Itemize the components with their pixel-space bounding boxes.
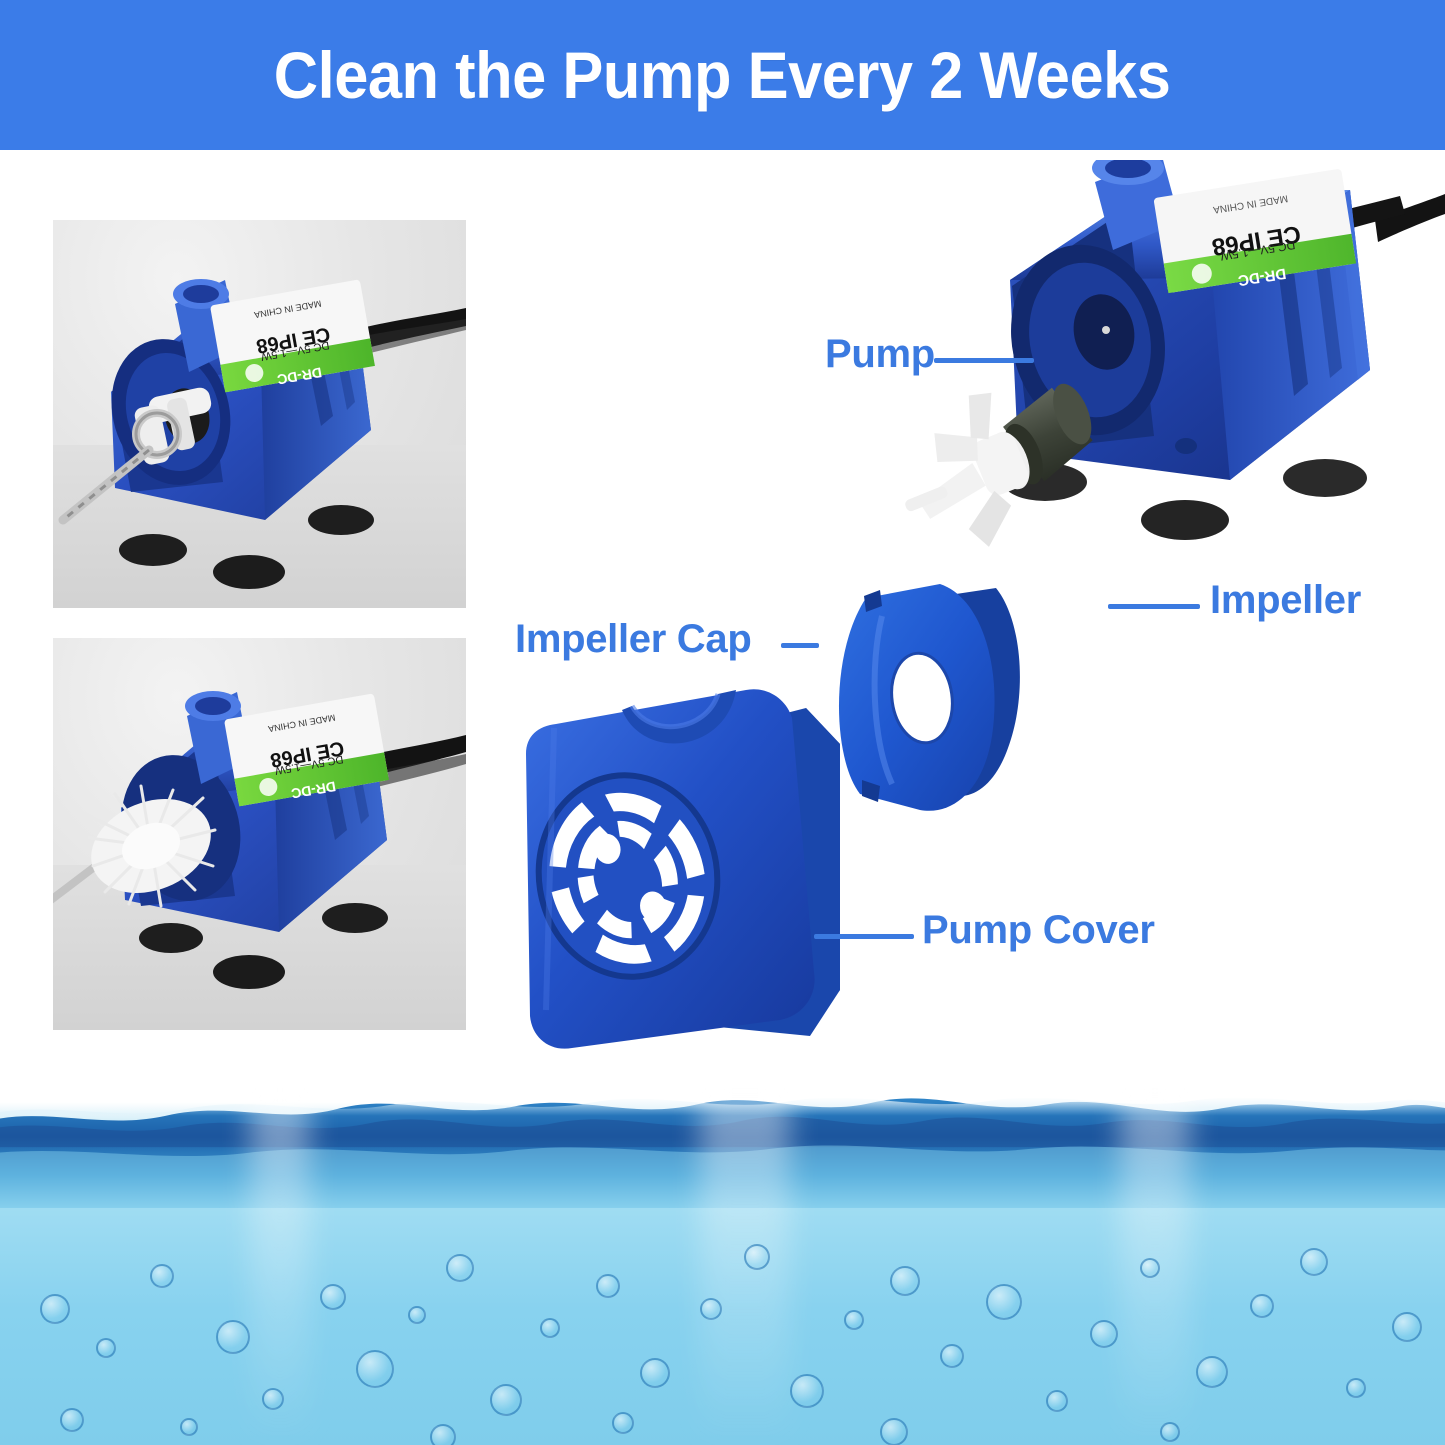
bubble <box>1300 1248 1328 1276</box>
page-title: Clean the Pump Every 2 Weeks <box>274 37 1171 113</box>
bubble <box>216 1320 250 1354</box>
label-pump: Pump <box>825 332 935 377</box>
light-ray <box>700 1088 790 1445</box>
leader-line-pump <box>934 358 1034 363</box>
bubble <box>640 1358 670 1388</box>
bubble <box>880 1418 908 1445</box>
pump-illustration: MADE IN CHINA CE IP68 DC 5V—1.5W DR-DC <box>53 220 466 608</box>
bubble <box>612 1412 634 1434</box>
bubble <box>1090 1320 1118 1348</box>
bubble <box>60 1408 84 1432</box>
bubble <box>1046 1390 1068 1412</box>
bubble <box>490 1384 522 1416</box>
photo-brush-inserted-into-pump: MADE IN CHINA CE IP68 DC 5V—1.5W DR-DC <box>53 220 466 608</box>
bubble <box>408 1306 426 1324</box>
bubble <box>1346 1378 1366 1398</box>
part-impeller-cap <box>839 584 1020 811</box>
bubble <box>96 1338 116 1358</box>
bubble <box>700 1298 722 1320</box>
bubble <box>1140 1258 1160 1278</box>
bubble <box>744 1244 770 1270</box>
bubble <box>844 1310 864 1330</box>
bubble <box>320 1284 346 1310</box>
exploded-parts-diagram: MADE IN CHINA CE IP68 DC 5V—1.5W DR-DC <box>470 160 1445 1060</box>
bubble <box>1160 1422 1180 1442</box>
part-pump: MADE IN CHINA CE IP68 DC 5V—1.5W DR-DC <box>994 160 1445 540</box>
bubble <box>890 1266 920 1296</box>
bubble <box>262 1388 284 1410</box>
bubble <box>1250 1294 1274 1318</box>
label-impeller: Impeller <box>1210 578 1361 623</box>
pump-illustration: MADE IN CHINA CE IP68 DC 5V—1.5W DR-DC <box>53 638 466 1030</box>
bubble <box>430 1424 456 1445</box>
bubble <box>986 1284 1022 1320</box>
bubble <box>1392 1312 1422 1342</box>
leader-line-pump-cover <box>814 934 914 939</box>
header-banner: Clean the Pump Every 2 Weeks <box>0 0 1445 150</box>
label-pump-cover: Pump Cover <box>922 908 1155 953</box>
bubble <box>40 1294 70 1324</box>
water-background <box>0 1088 1445 1445</box>
bubble <box>540 1318 560 1338</box>
infographic-root: Clean the Pump Every 2 Weeks <box>0 0 1445 1445</box>
leader-line-impeller-cap <box>781 643 819 648</box>
bubble <box>150 1264 174 1288</box>
bubble <box>790 1374 824 1408</box>
leader-line-impeller <box>1108 604 1200 609</box>
label-impeller-cap: Impeller Cap <box>515 617 751 662</box>
bubble <box>180 1418 198 1436</box>
part-pump-cover <box>521 689 840 1048</box>
bubble <box>596 1274 620 1298</box>
bubble <box>940 1344 964 1368</box>
bubble <box>1196 1356 1228 1388</box>
photo-brush-cleaning-pump-inlet: MADE IN CHINA CE IP68 DC 5V—1.5W DR-DC <box>53 638 466 1030</box>
bubble <box>356 1350 394 1388</box>
bubble <box>446 1254 474 1282</box>
